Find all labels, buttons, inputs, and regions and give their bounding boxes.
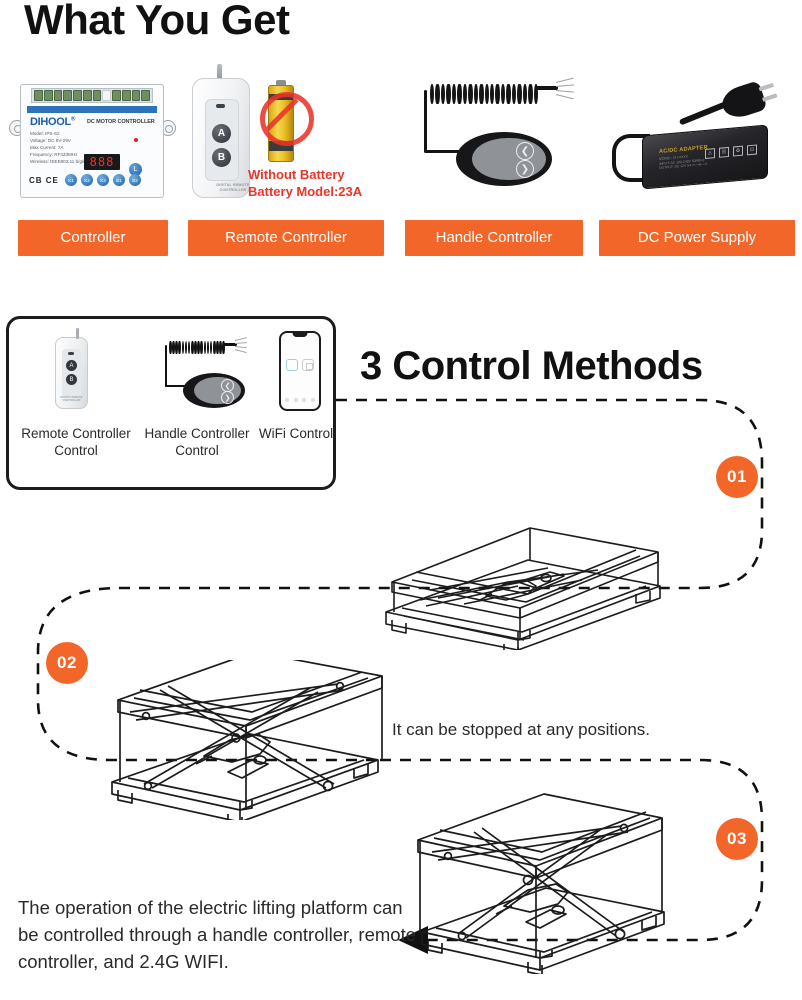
plug-prong-bottom xyxy=(762,93,778,101)
seven-segment-display: 888 xyxy=(84,154,120,170)
step-badge-02: 02 xyxy=(46,642,88,684)
spec-line: Max Current: 7A xyxy=(30,144,86,151)
registered-mark: ® xyxy=(71,116,75,122)
scissor-lift-mid-icon xyxy=(408,784,676,974)
controller-button[interactable]: K1 xyxy=(65,174,77,186)
adapter-assembly: AC/DC ADAPTER MODEL: CH-XXXX INPUT: AC 1… xyxy=(600,72,796,200)
products-row: DIHOOL® DC MOTOR CONTROLLER Model: IPS-S… xyxy=(0,62,802,262)
product-cell-handle: ❮ ❯ Handle Controller xyxy=(396,62,592,262)
handle-faceplate: ❮ ❯ xyxy=(472,138,546,180)
cable-segment-left xyxy=(424,90,427,152)
spec-line: Model: IPS-S2 xyxy=(30,130,86,137)
product-label-handle: Handle Controller xyxy=(405,220,583,256)
ac-dc-adapter-icon: AC/DC ADAPTER MODEL: CH-XXXX INPUT: AC 1… xyxy=(596,62,798,214)
warning-icon: ⚠ xyxy=(705,148,715,159)
product-label-remote: Remote Controller xyxy=(188,220,384,256)
handle-down-button[interactable]: ❯ xyxy=(516,160,534,178)
coiled-cable-icon xyxy=(430,84,538,104)
terminal-block-icon xyxy=(31,88,153,103)
handle-controller-icon: ❮ ❯ xyxy=(396,62,592,214)
adapter-safety-symbols: ⚠ ☒ ♻ ⊡ xyxy=(705,144,757,159)
handle-body: ❮ ❯ xyxy=(456,132,552,186)
product-label-controller: Controller xyxy=(18,220,168,256)
product-label-power: DC Power Supply xyxy=(599,220,795,256)
controller-spec-list: Model: IPS-S2 Voltage: DC 9V-29V Max Cur… xyxy=(30,130,86,165)
mid-note: It can be stopped at any positions. xyxy=(392,720,650,740)
controller-board: DIHOOL® DC MOTOR CONTROLLER Model: IPS-S… xyxy=(20,84,164,198)
remote-button-b[interactable]: B xyxy=(212,148,231,167)
battery-note: Without Battery Battery Model:23A xyxy=(248,166,362,200)
controller-button[interactable]: B1 xyxy=(113,174,125,186)
remote-button-a[interactable]: A xyxy=(212,124,231,143)
controller-button-row[interactable]: K1 K2 K3 B1 B2 xyxy=(65,174,141,186)
controller-button[interactable]: B2 xyxy=(129,174,141,186)
certification-marks: CB CE xyxy=(29,176,59,185)
class-ii-icon: ⊡ xyxy=(747,144,757,155)
controller-brand: DIHOOL® xyxy=(30,116,75,128)
board-blue-stripe xyxy=(27,106,157,113)
product-cell-power: AC/DC ADAPTER MODEL: CH-XXXX INPUT: AC 1… xyxy=(596,62,798,262)
prohibition-icon xyxy=(260,92,314,146)
controller-button[interactable]: K3 xyxy=(97,174,109,186)
adapter-brick: AC/DC ADAPTER MODEL: CH-XXXX INPUT: AC 1… xyxy=(642,124,768,189)
handle-assembly: ❮ ❯ xyxy=(404,76,584,196)
adapter-spec-list: MODEL: CH-XXXX INPUT: AC 100-240V 50/60H… xyxy=(659,153,707,171)
remote-body: A B DIGITAL REMOTE CONTROLLER xyxy=(192,78,250,198)
wall-plug-icon xyxy=(718,80,767,122)
page-title: What You Get xyxy=(24,0,289,44)
spec-line: Wireless: IEEE802.11 b/g/n xyxy=(30,158,86,165)
product-cell-remote: A B DIGITAL REMOTE CONTROLLER Without Ba… xyxy=(180,62,392,262)
product-cell-controller: DIHOOL® DC MOTOR CONTROLLER Model: IPS-S… xyxy=(8,62,178,262)
cable-tail xyxy=(536,86,558,90)
status-led-icon xyxy=(134,138,138,142)
bottom-copy: The operation of the electric lifting pl… xyxy=(18,894,418,975)
step-badge-01: 01 xyxy=(716,456,758,498)
battery-note-line-2: Battery Model:23A xyxy=(248,183,362,200)
spec-line: Voltage: DC 9V-29V xyxy=(30,137,86,144)
controller-board-icon: DIHOOL® DC MOTOR CONTROLLER Model: IPS-S… xyxy=(8,62,178,214)
scissor-lift-lowered-icon xyxy=(368,520,678,650)
bare-wires-icon xyxy=(556,80,574,96)
handle-up-button[interactable]: ❮ xyxy=(516,142,534,160)
controller-brand-text: DIHOOL xyxy=(30,116,71,128)
step-badge-03: 03 xyxy=(716,818,758,860)
spec-line: Frequency: RF433MHz xyxy=(30,151,86,158)
remote-led-icon xyxy=(216,104,225,108)
plug-prong-top xyxy=(759,83,775,91)
recycle-icon: ♻ xyxy=(733,146,743,157)
controller-button[interactable]: K2 xyxy=(81,174,93,186)
remote-controller-icon: A B DIGITAL REMOTE CONTROLLER Without Ba… xyxy=(180,62,392,214)
controller-subtitle: DC MOTOR CONTROLLER xyxy=(87,119,155,125)
scissor-lift-raised-icon xyxy=(100,660,390,820)
battery-note-line-1: Without Battery xyxy=(248,166,362,183)
no-disposal-icon: ☒ xyxy=(719,147,729,158)
